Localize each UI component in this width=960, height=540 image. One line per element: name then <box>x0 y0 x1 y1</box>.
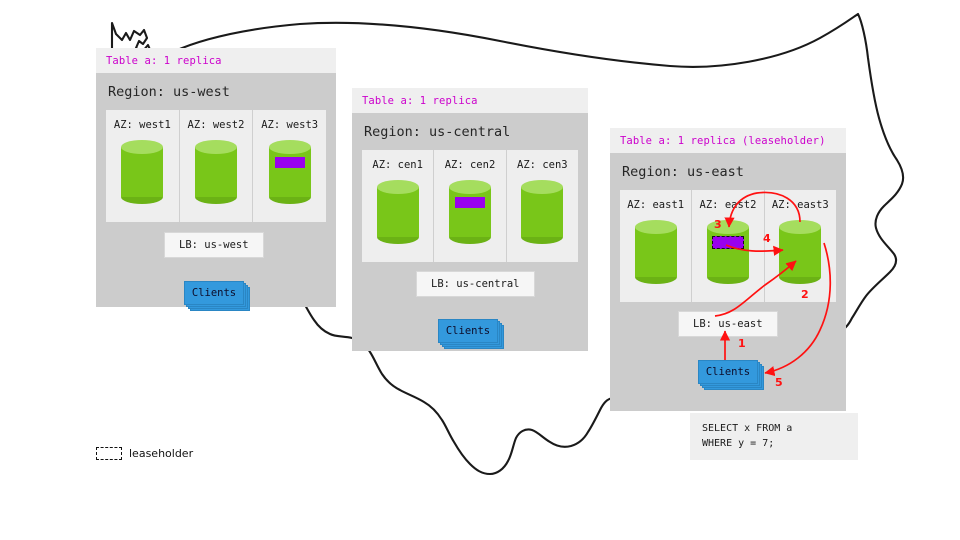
cylinder-body <box>779 227 821 277</box>
cylinder-body <box>269 147 311 197</box>
clients-label-us-west[interactable]: Clients <box>184 281 244 305</box>
cylinder-top <box>635 220 677 234</box>
region-title-us-central: Region: us-central <box>352 113 588 150</box>
load-balancer-us-west[interactable]: LB: us-west <box>164 232 264 258</box>
cylinder-top <box>121 140 163 154</box>
az-label-cen3: AZ: cen3 <box>507 159 578 171</box>
az-cell-cen3[interactable]: AZ: cen3 <box>507 150 578 262</box>
region-panel-us-central: Table a: 1 replica Region: us-central AZ… <box>352 88 588 351</box>
region-title-us-west: Region: us-west <box>96 73 336 110</box>
step-number-1: 1 <box>738 337 746 350</box>
cylinder-body <box>449 187 491 237</box>
node-cylinder-west3[interactable] <box>269 140 311 204</box>
az-row-us-east: AZ: east1 AZ: east2 <box>620 190 836 302</box>
step-number-3: 3 <box>714 218 722 231</box>
az-label-west2: AZ: west2 <box>180 119 253 131</box>
node-cylinder-cen1[interactable] <box>377 180 419 244</box>
node-cylinder-east3[interactable] <box>779 220 821 284</box>
panel-header-us-east: Table a: 1 replica (leaseholder) <box>610 128 846 153</box>
dashed-rect-icon <box>96 447 122 460</box>
az-cell-cen1[interactable]: AZ: cen1 <box>362 150 434 262</box>
az-cell-east3[interactable]: AZ: east3 <box>765 190 836 302</box>
cylinder-top <box>195 140 237 154</box>
cylinder-top <box>377 180 419 194</box>
clients-label-us-central[interactable]: Clients <box>438 319 498 343</box>
clients-us-west[interactable]: Clients <box>184 281 242 303</box>
az-label-west1: AZ: west1 <box>106 119 179 131</box>
az-label-west3: AZ: west3 <box>253 119 326 131</box>
az-cell-west2[interactable]: AZ: west2 <box>180 110 254 222</box>
panel-header-us-west: Table a: 1 replica <box>96 48 336 73</box>
cylinder-body <box>121 147 163 197</box>
replica-marker-cen2 <box>455 197 485 208</box>
cylinder-body <box>521 187 563 237</box>
cylinder-top <box>449 180 491 194</box>
leaseholder-replica-east2 <box>712 236 744 249</box>
legend-label: leaseholder <box>129 447 193 460</box>
sql-query-box: SELECT x FROM a WHERE y = 7; <box>690 413 858 460</box>
az-cell-cen2[interactable]: AZ: cen2 <box>434 150 506 262</box>
az-label-cen1: AZ: cen1 <box>362 159 433 171</box>
diagram-canvas: Table a: 1 replica Region: us-west AZ: w… <box>0 0 960 540</box>
cylinder-top <box>521 180 563 194</box>
cylinder-body <box>195 147 237 197</box>
cylinder-top <box>779 220 821 234</box>
cylinder-top <box>269 140 311 154</box>
region-title-us-east: Region: us-east <box>610 153 846 190</box>
panel-body-us-west: Region: us-west AZ: west1 AZ: west2 <box>96 73 336 307</box>
node-cylinder-cen2[interactable] <box>449 180 491 244</box>
panel-header-us-central: Table a: 1 replica <box>352 88 588 113</box>
node-cylinder-east1[interactable] <box>635 220 677 284</box>
step-number-5: 5 <box>775 376 783 389</box>
az-label-east3: AZ: east3 <box>765 199 836 211</box>
az-cell-east1[interactable]: AZ: east1 <box>620 190 692 302</box>
step-number-4: 4 <box>763 232 771 245</box>
node-cylinder-west2[interactable] <box>195 140 237 204</box>
cylinder-body <box>707 227 749 277</box>
legend: leaseholder <box>96 447 193 460</box>
az-label-east2: AZ: east2 <box>692 199 763 211</box>
node-cylinder-cen3[interactable] <box>521 180 563 244</box>
load-balancer-us-central[interactable]: LB: us-central <box>416 271 535 297</box>
az-label-cen2: AZ: cen2 <box>434 159 505 171</box>
az-cell-east2[interactable]: AZ: east2 <box>692 190 764 302</box>
region-panel-us-west: Table a: 1 replica Region: us-west AZ: w… <box>96 48 336 307</box>
load-balancer-us-east[interactable]: LB: us-east <box>678 311 778 337</box>
az-cell-west3[interactable]: AZ: west3 <box>253 110 326 222</box>
region-panel-us-east: Table a: 1 replica (leaseholder) Region:… <box>610 128 846 411</box>
az-row-us-west: AZ: west1 AZ: west2 <box>106 110 326 222</box>
clients-label-us-east[interactable]: Clients <box>698 360 758 384</box>
az-label-east1: AZ: east1 <box>620 199 691 211</box>
cylinder-body <box>377 187 419 237</box>
clients-us-east[interactable]: Clients <box>698 360 756 382</box>
panel-body-us-central: Region: us-central AZ: cen1 AZ: cen2 <box>352 113 588 351</box>
cylinder-body <box>635 227 677 277</box>
az-cell-west1[interactable]: AZ: west1 <box>106 110 180 222</box>
node-cylinder-west1[interactable] <box>121 140 163 204</box>
az-row-us-central: AZ: cen1 AZ: cen2 <box>362 150 578 262</box>
replica-marker-west3 <box>275 157 305 168</box>
clients-us-central[interactable]: Clients <box>438 319 496 341</box>
step-number-2: 2 <box>801 288 809 301</box>
